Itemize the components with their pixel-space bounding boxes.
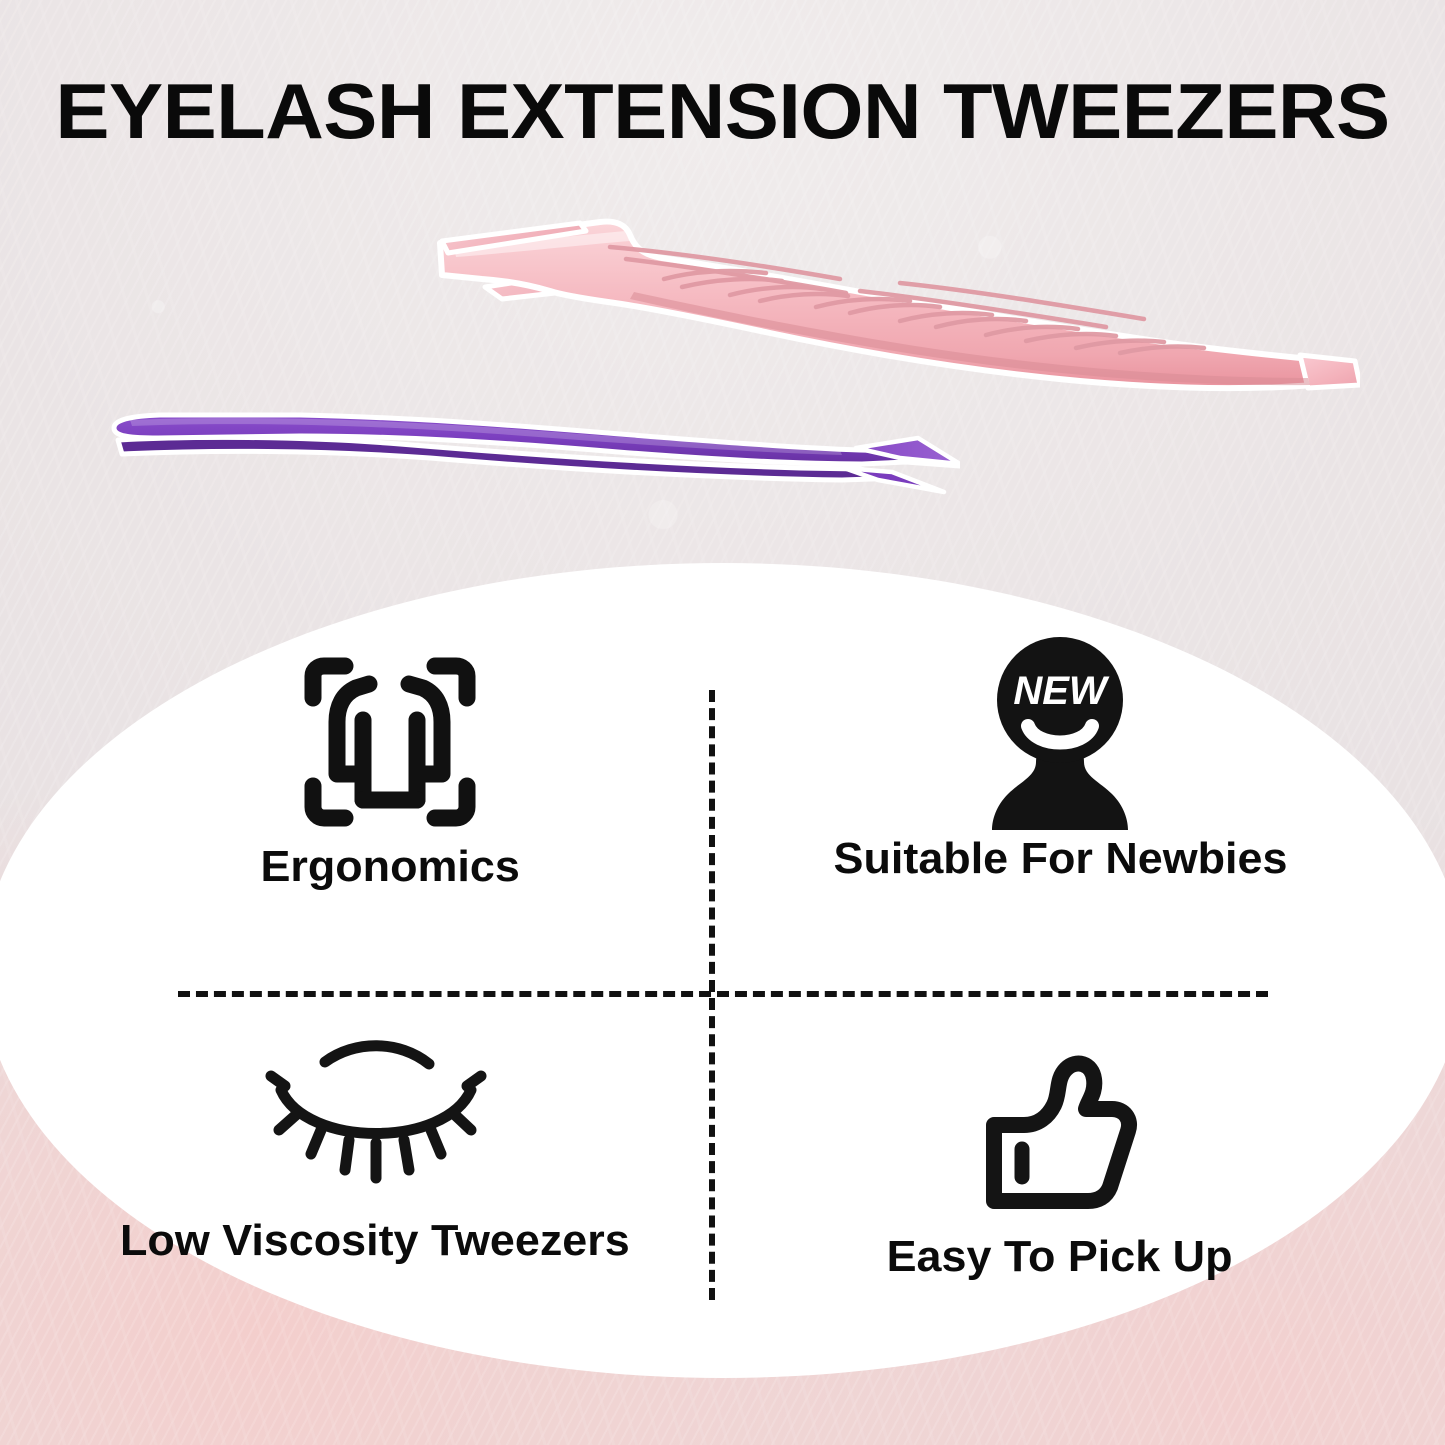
thumbs-up-icon <box>980 1032 1140 1232</box>
product-feature-graphic: EYELASH EXTENSION TWEEZERS <box>0 0 1445 1445</box>
feature-label: Low Viscosity Tweezers <box>120 1216 630 1266</box>
feature-item-newbies[interactable]: NEW Suitable For Newbies <box>730 634 1390 884</box>
closed-eye-lashes-icon <box>259 1016 491 1216</box>
ergonomics-grip-icon <box>301 642 479 842</box>
feature-item-ergonomics[interactable]: Ergonomics <box>60 642 720 892</box>
new-user-badge-icon: NEW <box>980 634 1140 834</box>
new-badge-text: NEW <box>1013 669 1110 713</box>
feature-grid: Ergonomics NEW Suitable For Newbies <box>0 620 1445 1320</box>
product-image-purple-tweezer <box>100 392 960 507</box>
product-image-pink-tweezer <box>430 195 1360 420</box>
feature-item-easy-pick-up[interactable]: Easy To Pick Up <box>730 1032 1390 1282</box>
feature-label: Ergonomics <box>260 842 519 892</box>
feature-label: Easy To Pick Up <box>887 1232 1233 1282</box>
feature-label: Suitable For Newbies <box>833 834 1287 884</box>
feature-item-low-viscosity[interactable]: Low Viscosity Tweezers <box>45 1016 705 1266</box>
